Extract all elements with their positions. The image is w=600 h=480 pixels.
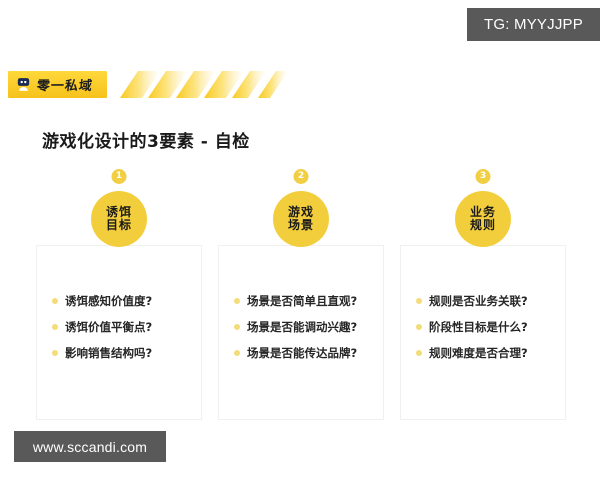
- step-badge: 3: [476, 169, 491, 184]
- card-checklist: 场景是否简单且直观? 场景是否能调动兴趣? 场景是否能传达品牌?: [219, 288, 383, 366]
- bullet-dot-icon: [416, 298, 422, 304]
- list-item: 场景是否能调动兴趣?: [219, 314, 383, 340]
- bullet-dot-icon: [52, 350, 58, 356]
- card-checklist: 规则是否业务关联? 阶段性目标是什么? 规则难度是否合理?: [401, 288, 565, 366]
- card-checklist: 诱饵感知价值度? 诱饵价值平衡点? 影响销售结构吗?: [37, 288, 201, 366]
- card-heading-circle: 业务 规则: [455, 191, 511, 247]
- list-item-label: 场景是否能调动兴趣?: [247, 319, 357, 335]
- card-heading-line2: 目标: [106, 219, 132, 232]
- list-item: 影响销售结构吗?: [37, 340, 201, 366]
- list-item-label: 场景是否简单且直观?: [247, 293, 357, 309]
- card-heading-line1: 诱饵: [106, 206, 132, 219]
- list-item: 阶段性目标是什么?: [401, 314, 565, 340]
- card-heading-line2: 规则: [470, 219, 496, 232]
- list-item: 场景是否简单且直观?: [219, 288, 383, 314]
- brand-bar: 零一私域: [8, 71, 448, 98]
- brand-badge: 零一私域: [8, 71, 107, 98]
- slide-panel: 零一私域 游戏化设计的3要素 - 自检 1 诱饵 目标 诱饵感知价值度? 诱饵价…: [0, 66, 600, 366]
- step-badge: 1: [112, 169, 127, 184]
- list-item-label: 场景是否能传达品牌?: [247, 345, 357, 361]
- step-badge: 2: [294, 169, 309, 184]
- card-heading-line2: 场景: [288, 219, 314, 232]
- list-item: 规则难度是否合理?: [401, 340, 565, 366]
- cards-row: 1 诱饵 目标 诱饵感知价值度? 诱饵价值平衡点? 影响销售结构吗? 2 游戏 …: [36, 171, 566, 420]
- bullet-dot-icon: [234, 324, 240, 330]
- bullet-dot-icon: [234, 350, 240, 356]
- card-decoy-goal[interactable]: 1 诱饵 目标 诱饵感知价值度? 诱饵价值平衡点? 影响销售结构吗?: [36, 245, 202, 420]
- card-heading-circle: 游戏 场景: [273, 191, 329, 247]
- card-heading-line1: 游戏: [288, 206, 314, 219]
- list-item-label: 诱饵感知价值度?: [65, 293, 152, 309]
- telegram-watermark: TG: MYYJJPP: [467, 8, 600, 41]
- bullet-dot-icon: [416, 350, 422, 356]
- brand-name: 零一私域: [36, 75, 94, 94]
- list-item: 规则是否业务关联?: [401, 288, 565, 314]
- card-heading-line1: 业务: [470, 206, 496, 219]
- list-item: 诱饵感知价值度?: [37, 288, 201, 314]
- robot-icon: [15, 76, 32, 93]
- bullet-dot-icon: [52, 324, 58, 330]
- bullet-dot-icon: [234, 298, 240, 304]
- list-item-label: 阶段性目标是什么?: [429, 319, 528, 335]
- bullet-dot-icon: [416, 324, 422, 330]
- list-item-label: 影响销售结构吗?: [65, 345, 152, 361]
- website-watermark: www.sccandi.com: [14, 431, 166, 462]
- list-item-label: 规则难度是否合理?: [429, 345, 528, 361]
- list-item-label: 规则是否业务关联?: [429, 293, 528, 309]
- bullet-dot-icon: [52, 298, 58, 304]
- list-item: 诱饵价值平衡点?: [37, 314, 201, 340]
- card-business-rules[interactable]: 3 业务 规则 规则是否业务关联? 阶段性目标是什么? 规则难度是否合理?: [400, 245, 566, 420]
- page-title: 游戏化设计的3要素 - 自检: [42, 127, 250, 152]
- card-heading-circle: 诱饵 目标: [91, 191, 147, 247]
- list-item-label: 诱饵价值平衡点?: [65, 319, 152, 335]
- list-item: 场景是否能传达品牌?: [219, 340, 383, 366]
- card-game-scenario[interactable]: 2 游戏 场景 场景是否简单且直观? 场景是否能调动兴趣? 场景是否能传达品牌?: [218, 245, 384, 420]
